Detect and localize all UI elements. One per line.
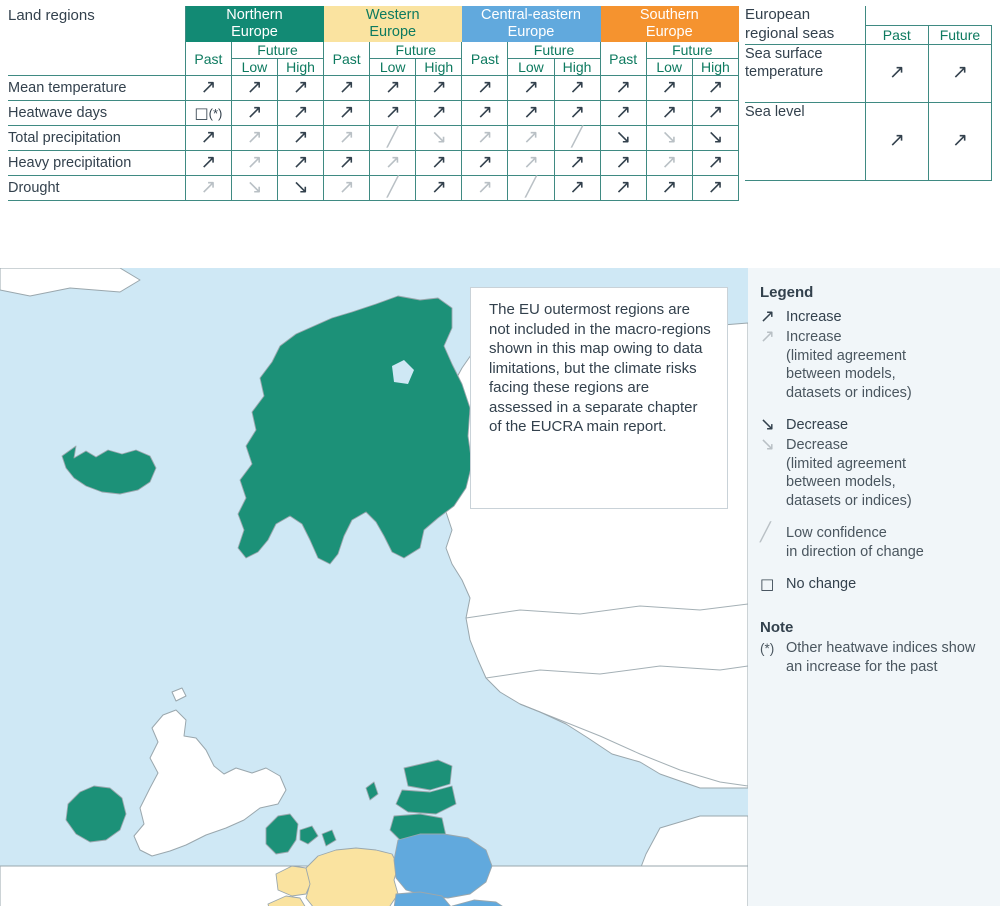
indicator-cell: ↗ [692, 76, 738, 101]
land-header-row-regions: Land regionsNorthernEuropeWesternEuropeC… [8, 7, 739, 42]
legend-item: □No change [760, 575, 988, 594]
legend-label: Decrease [786, 416, 848, 435]
indicator-cell: ↗ [508, 101, 554, 126]
indicator-cell: ↗ [600, 101, 646, 126]
subheader-low-west: Low [370, 59, 416, 76]
arrow-down-right-icon: ↘ [760, 416, 775, 434]
arrow-up-right-icon: ↗ [200, 128, 216, 147]
subheader-future-north: Future [231, 42, 323, 59]
indicator-cell: ↗ [324, 176, 370, 201]
arrow-up-right-icon: ↗ [523, 78, 539, 97]
indicator-cell: ↗ [646, 151, 692, 176]
low-confidence-icon: ╱ [387, 178, 398, 197]
seas-row-label-0: Sea surface temperature [745, 44, 865, 102]
indicator-cell: ↗ [646, 176, 692, 201]
indicator-cell: ↗ [462, 101, 508, 126]
indicator-cell: ↗ [231, 76, 277, 101]
legend-label: No change [786, 575, 856, 594]
indicator-cell: ↘ [646, 126, 692, 151]
arrow-up-right-icon: ↗ [477, 103, 493, 122]
arrow-up-right-icon: ↗ [477, 78, 493, 97]
legend-label: Increase [786, 308, 842, 327]
map-callout-text: The EU outermost regions are not include… [489, 301, 711, 435]
map-callout-box: The EU outermost regions are not include… [470, 287, 728, 509]
indicator-cell: ↗ [508, 126, 554, 151]
indicator-cell: ↘ [600, 126, 646, 151]
arrow-up-right-icon: ↗ [569, 103, 585, 122]
table-row: Mean temperature↗↗↗↗↗↗↗↗↗↗↗↗ [8, 76, 739, 101]
arrow-up-right-icon: ↗ [661, 103, 677, 122]
subheader-high-centr: High [554, 59, 600, 76]
row-label-1: Heatwave days [8, 101, 185, 126]
arrow-up-right-icon: ↗ [293, 103, 309, 122]
seas-row-label-1: Sea level [745, 102, 865, 180]
indicator-cell: ↗ [185, 76, 231, 101]
indicator-cell: ↗ [692, 151, 738, 176]
legend-item: ↗Increase [760, 308, 988, 327]
subheader-low-centr: Low [508, 59, 554, 76]
region-header-south: SouthernEurope [600, 7, 738, 42]
table-row: Heavy precipitation↗↗↗↗↗↗↗↗↗↗↗↗ [8, 151, 739, 176]
arrow-up-right-icon: ↗ [707, 178, 723, 197]
subheader-past-north: Past [185, 42, 231, 76]
arrow-down-right-icon: ↘ [707, 128, 723, 147]
indicator-cell: ↗ [185, 151, 231, 176]
indicator-cell: ↗ [231, 151, 277, 176]
legend-spacer [760, 403, 988, 416]
indicator-cell: ↗ [692, 176, 738, 201]
seas-table-title: European regional seas [745, 6, 865, 44]
arrow-up-right-icon: ↗ [477, 153, 493, 172]
arrow-up-right-icon: ↗ [339, 178, 355, 197]
arrow-up-right-icon: ↗ [477, 128, 493, 147]
regional-seas-table: European regional seas PastFuture Sea su… [745, 6, 992, 181]
indicator-cell: ↗ [324, 101, 370, 126]
indicator-cell: ↗ [324, 126, 370, 151]
legend-label: Decrease(limited agreementbetween models… [786, 436, 912, 510]
arrow-up-right-icon: ↗ [523, 128, 539, 147]
indicator-cell: ↗ [278, 101, 324, 126]
indicator-cell: ╱ [508, 176, 554, 201]
arrow-up-right-icon: ↗ [661, 78, 677, 97]
arrow-up-right-icon: ↗ [200, 178, 216, 197]
arrow-up-right-icon: ↗ [385, 78, 401, 97]
legend-label: Increase(limited agreementbetween models… [786, 328, 912, 402]
indicator-cell: ↗ [416, 176, 462, 201]
indicator-cell: ↗ [928, 102, 991, 180]
indicator-cell: ↗ [278, 126, 324, 151]
low-confidence-icon: ╱ [760, 524, 771, 542]
arrow-up-right-icon: ↗ [339, 103, 355, 122]
indicator-cell: ↗ [370, 101, 416, 126]
indicator-cell: ╱ [554, 126, 600, 151]
row-label-3: Heavy precipitation [8, 151, 185, 176]
indicator-cell: ↗ [278, 151, 324, 176]
legend-title: Legend [760, 284, 988, 301]
legend-label: Low confidencein direction of change [786, 524, 924, 561]
indicator-cell: ↗ [231, 126, 277, 151]
table-row: Heatwave days□(*)↗↗↗↗↗↗↗↗↗↗↗ [8, 101, 739, 126]
arrow-up-right-icon: ↗ [569, 178, 585, 197]
indicator-cell: □(*) [185, 101, 231, 126]
indicator-cell: ↗ [324, 76, 370, 101]
subheader-high-north: High [278, 59, 324, 76]
arrow-up-right-icon: ↗ [293, 153, 309, 172]
subheader-past-west: Past [324, 42, 370, 76]
legend-spacer [760, 562, 988, 575]
indicator-cell: ↗ [370, 151, 416, 176]
arrow-up-right-icon: ↗ [431, 78, 447, 97]
table-row: Sea level↗↗ [745, 102, 992, 180]
indicator-cell: ↗ [600, 76, 646, 101]
arrow-up-right-icon: ↗ [247, 128, 263, 147]
indicator-cell: ↗ [928, 44, 991, 102]
arrow-up-right-icon: ↗ [569, 78, 585, 97]
arrow-up-right-icon: ↗ [615, 103, 631, 122]
indicator-cell: ╱ [370, 126, 416, 151]
land-table-title: Land regions [8, 7, 185, 76]
indicator-cell: ↗ [462, 76, 508, 101]
arrow-up-right-icon: ↗ [339, 128, 355, 147]
indicator-cell: ↗ [370, 76, 416, 101]
arrow-up-right-icon: ↗ [615, 153, 631, 172]
low-confidence-icon: ╱ [387, 128, 398, 147]
arrow-up-right-icon: ↗ [952, 131, 968, 150]
indicator-cell: ↗ [231, 101, 277, 126]
subheader-past-centr: Past [462, 42, 508, 76]
legend-glyph: ↘ [760, 436, 786, 455]
indicator-cell: ↗ [865, 44, 928, 102]
arrow-up-right-icon: ↗ [889, 131, 905, 150]
arrow-up-right-icon: ↗ [707, 78, 723, 97]
indicator-cell: ↗ [508, 76, 554, 101]
table-row: Sea surface temperature↗↗ [745, 44, 992, 102]
indicator-cell: ↗ [865, 102, 928, 180]
indicator-cell: ↗ [646, 76, 692, 101]
arrow-up-right-icon: ↗ [952, 63, 968, 82]
arrow-down-right-icon: ↘ [247, 178, 263, 197]
indicator-cell: ↗ [462, 176, 508, 201]
seas-header-row-title: European regional seas [745, 6, 992, 26]
legend-item: ↘Decrease(limited agreementbetween model… [760, 436, 988, 510]
legend-glyph: ╱ [760, 524, 786, 543]
indicator-cell: ↗ [692, 101, 738, 126]
indicator-cell: ↘ [231, 176, 277, 201]
seas-header-blank [865, 6, 991, 26]
arrow-down-right-icon: ↘ [661, 128, 677, 147]
no-change-icon: □ [760, 575, 774, 593]
arrow-up-right-icon: ↗ [707, 153, 723, 172]
legend-item: ↘Decrease [760, 416, 988, 435]
arrow-up-right-icon: ↗ [661, 153, 677, 172]
seas-subheader-past: Past [865, 26, 928, 44]
arrow-up-right-icon: ↗ [431, 103, 447, 122]
arrow-up-right-icon: ↗ [760, 328, 775, 346]
indicator-cell: ↗ [416, 76, 462, 101]
indicator-cell: ↗ [554, 101, 600, 126]
legend-panel: Legend ↗Increase↗Increase(limited agreem… [748, 268, 1000, 906]
indicator-cell: ↗ [278, 76, 324, 101]
low-confidence-icon: ╱ [525, 178, 536, 197]
arrow-up-right-icon: ↗ [200, 78, 216, 97]
table-row: Total precipitation↗↗↗↗╱↘↗↗╱↘↘↘ [8, 126, 739, 151]
arrow-up-right-icon: ↗ [569, 153, 585, 172]
subheader-future-centr: Future [508, 42, 600, 59]
subheader-low-south: Low [646, 59, 692, 76]
legend-glyph: ↘ [760, 416, 786, 435]
row-label-0: Mean temperature [8, 76, 185, 101]
arrow-up-right-icon: ↗ [615, 178, 631, 197]
indicator-cell: ↗ [600, 151, 646, 176]
arrow-up-right-icon: ↗ [293, 78, 309, 97]
arrow-up-right-icon: ↗ [247, 153, 263, 172]
tables-area: Land regionsNorthernEuropeWesternEuropeC… [0, 0, 1000, 268]
arrow-up-right-icon: ↗ [431, 178, 447, 197]
note-text: Other heatwave indices show an increase … [786, 639, 988, 677]
indicator-cell: ↗ [185, 126, 231, 151]
table-row: Drought↗↘↘↗╱↗↗╱↗↗↗↗ [8, 176, 739, 201]
indicator-cell: ↗ [462, 151, 508, 176]
arrow-up-right-icon: ↗ [293, 128, 309, 147]
indicator-cell: ↗ [646, 101, 692, 126]
arrow-down-right-icon: ↘ [293, 178, 309, 197]
legend-spacer [760, 511, 988, 524]
arrow-up-right-icon: ↗ [523, 153, 539, 172]
indicator-cell: ↗ [185, 176, 231, 201]
seas-subheader-future: Future [928, 26, 991, 44]
region-header-west: WesternEurope [324, 7, 462, 42]
legend-glyph: □ [760, 575, 786, 594]
arrow-up-right-icon: ↗ [385, 103, 401, 122]
subheader-past-south: Past [600, 42, 646, 76]
arrow-up-right-icon: ↗ [661, 178, 677, 197]
legend-glyph: ↗ [760, 308, 786, 327]
arrow-up-right-icon: ↗ [477, 178, 493, 197]
figure-root: Land regionsNorthernEuropeWesternEuropeC… [0, 0, 1000, 906]
row-label-2: Total precipitation [8, 126, 185, 151]
legend-item: ╱Low confidencein direction of change [760, 524, 988, 561]
indicator-cell: ↗ [416, 151, 462, 176]
legend-item: ↗Increase(limited agreementbetween model… [760, 328, 988, 402]
indicator-cell: ↗ [462, 126, 508, 151]
no-change-icon: □(*) [194, 104, 222, 122]
subheader-high-west: High [416, 59, 462, 76]
indicator-cell: ╱ [370, 176, 416, 201]
arrow-up-right-icon: ↗ [200, 153, 216, 172]
subheader-high-south: High [692, 59, 738, 76]
arrow-down-right-icon: ↘ [431, 128, 447, 147]
arrow-up-right-icon: ↗ [247, 78, 263, 97]
indicator-cell: ↘ [416, 126, 462, 151]
indicator-cell: ↗ [324, 151, 370, 176]
arrow-up-right-icon: ↗ [889, 63, 905, 82]
low-confidence-icon: ╱ [571, 128, 582, 147]
land-regions-table: Land regionsNorthernEuropeWesternEuropeC… [8, 6, 739, 201]
note-row: (*) Other heatwave indices show an incre… [760, 639, 988, 677]
arrow-up-right-icon: ↗ [707, 103, 723, 122]
row-label-4: Drought [8, 176, 185, 201]
note-title: Note [760, 619, 988, 636]
indicator-cell: ↗ [554, 76, 600, 101]
subheader-future-south: Future [646, 42, 738, 59]
subheader-future-west: Future [370, 42, 462, 59]
subheader-low-north: Low [231, 59, 277, 76]
indicator-cell: ↘ [692, 126, 738, 151]
region-header-centr: Central-easternEurope [462, 7, 600, 42]
indicator-cell: ↗ [554, 176, 600, 201]
note-marker: (*) [760, 639, 786, 656]
region-header-north: NorthernEurope [185, 7, 323, 42]
arrow-up-right-icon: ↗ [339, 78, 355, 97]
legend-glyph: ↗ [760, 328, 786, 347]
arrow-up-right-icon: ↗ [247, 103, 263, 122]
arrow-down-right-icon: ↘ [615, 128, 631, 147]
arrow-up-right-icon: ↗ [385, 153, 401, 172]
arrow-up-right-icon: ↗ [339, 153, 355, 172]
legend-items: ↗Increase↗Increase(limited agreementbetw… [760, 308, 988, 594]
indicator-cell: ↘ [278, 176, 324, 201]
indicator-cell: ↗ [600, 176, 646, 201]
arrow-up-right-icon: ↗ [523, 103, 539, 122]
arrow-up-right-icon: ↗ [431, 153, 447, 172]
indicator-cell: ↗ [416, 101, 462, 126]
arrow-down-right-icon: ↘ [760, 436, 775, 454]
indicator-cell: ↗ [508, 151, 554, 176]
arrow-up-right-icon: ↗ [760, 308, 775, 326]
indicator-cell: ↗ [554, 151, 600, 176]
arrow-up-right-icon: ↗ [615, 78, 631, 97]
